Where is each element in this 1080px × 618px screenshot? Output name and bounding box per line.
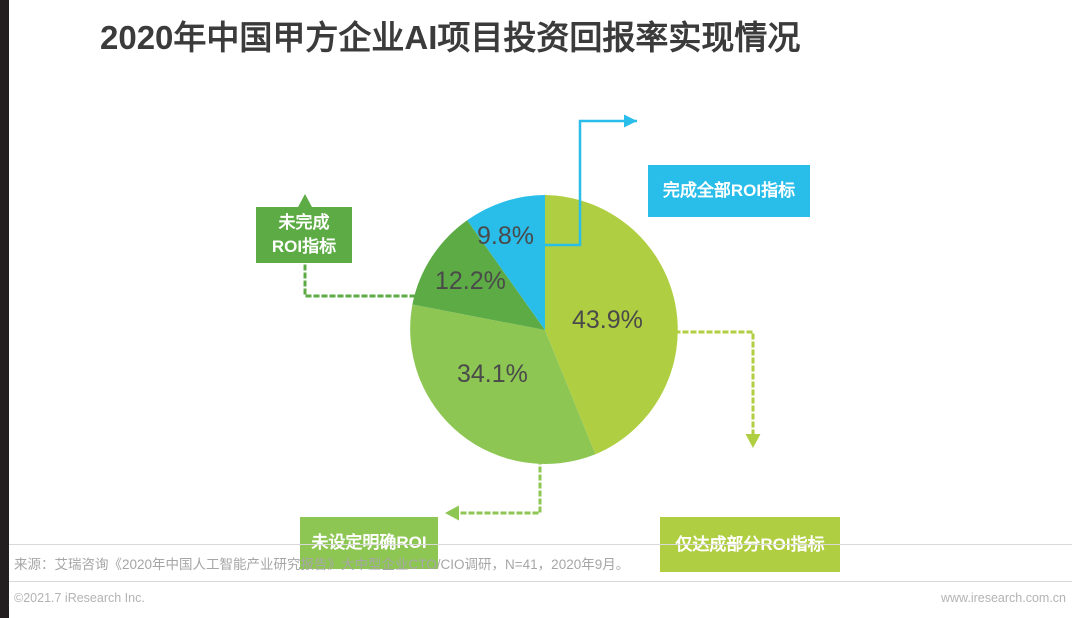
website-url[interactable]: www.iresearch.com.cn	[941, 591, 1066, 605]
slide-page: 2020年中国甲方企业AI项目投资回报率实现情况	[0, 0, 1080, 618]
page-title: 2020年中国甲方企业AI项目投资回报率实现情况	[100, 16, 1000, 60]
slice-value-yellowgreen: 43.9%	[572, 306, 643, 335]
footer-divider-top	[9, 544, 1072, 545]
slice-value-darkgreen: 12.2%	[435, 267, 506, 296]
callout-label-not-completed-roi[interactable]: 未完成ROI指标	[256, 207, 352, 263]
pie-chart-area: 43.9% 34.1% 12.2% 9.8% 完成全部ROI指标 未完成ROI指…	[0, 70, 1080, 530]
footer-divider-bottom	[9, 581, 1072, 582]
callout-label-completed-all-roi[interactable]: 完成全部ROI指标	[648, 165, 810, 217]
slice-value-midgreen: 34.1%	[457, 360, 528, 389]
connector-midgreen	[445, 460, 540, 521]
copyright-text: ©2021.7 iResearch Inc.	[14, 591, 145, 605]
pie-chart-svg	[0, 70, 1080, 530]
connector-yellowgreen	[676, 332, 761, 448]
source-note: 来源：艾瑞咨询《2020年中国人工智能产业研究报告》大中型企业CTO/CIO调研…	[14, 553, 629, 573]
slice-value-blue: 9.8%	[477, 222, 534, 251]
